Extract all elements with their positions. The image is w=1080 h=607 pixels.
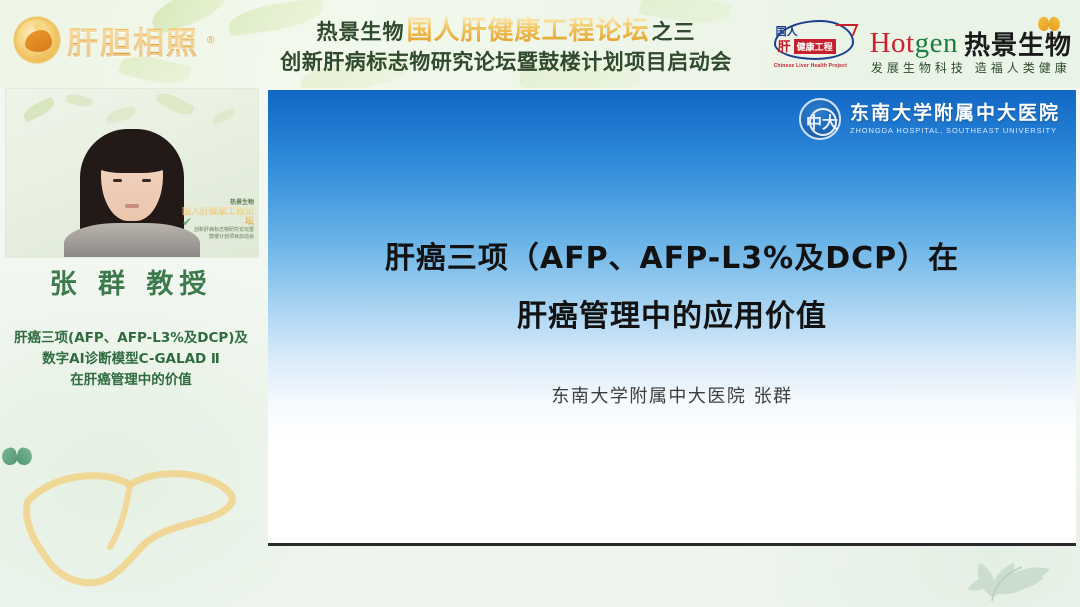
speaker-topic: 肝癌三项(AFP、AFP-L3%及DCP)及 数字AI诊断模型C-GALAD Ⅱ…: [4, 328, 258, 391]
slide-presenter: 东南大学附属中大医院 张群: [268, 382, 1076, 408]
slide-title-line-2: 肝癌管理中的应用价值: [268, 288, 1076, 346]
app-root: 肝胆相照 ® 热景生物国人肝健康工程论坛之三 创新肝病标志物研究论坛暨鼓楼计划项…: [0, 0, 1080, 607]
registered-mark: ®: [207, 35, 214, 46]
brand-logo[interactable]: 肝胆相照 ®: [14, 17, 214, 63]
leaf-decor-icon: [211, 107, 237, 125]
liver-outline-decoration: [14, 455, 246, 590]
watermark-line-4: 鼓楼计划项目启动会: [182, 234, 254, 241]
leaf-decor-icon: [21, 96, 57, 122]
event-title-line-2: 创新肝病标志物研究论坛暨鼓楼计划项目启动会: [256, 47, 756, 77]
hotgen-logo: Hotgen 热景生物 发展生物科技 造福人类健康: [870, 25, 1072, 62]
leaf-decoration-icon: [918, 543, 1068, 605]
hotgen-word-hot: Hot: [870, 27, 915, 59]
event-title-block: 热景生物国人肝健康工程论坛之三 创新肝病标志物研究论坛暨鼓楼计划项目启动会: [256, 16, 756, 77]
watermark-line-3: 创新肝病标志物研究论坛暨: [182, 227, 254, 234]
liver-emblem-icon: [14, 17, 60, 63]
speaker-portrait: [73, 107, 191, 257]
presentation-slide[interactable]: 中大 东南大学附属中大医院 ZHONGDA HOSPITAL, SOUTHEAS…: [268, 90, 1076, 546]
china-liver-health-project-logo: 国人 肝 健康工程 Chinese Liver Health Project: [772, 18, 858, 68]
slide-title: 肝癌三项（AFP、AFP-L3%及DCP）在 肝癌管理中的应用价值: [268, 230, 1076, 346]
hospital-name-cn: 东南大学附属中大医院: [850, 104, 1060, 124]
check-icon: ✔: [182, 215, 192, 229]
speaker-topic-line-3: 在肝癌管理中的价值: [4, 370, 258, 391]
arrow-icon: [831, 24, 858, 36]
watermark-line-1: 热景生物: [182, 199, 254, 207]
speaker-topic-line-1: 肝癌三项(AFP、AFP-L3%及DCP)及: [4, 328, 258, 349]
clhp-en-label: Chinese Liver Health Project: [774, 63, 847, 69]
clhp-cn-red: 肝: [778, 36, 791, 55]
event-title-suffix: 之三: [652, 20, 696, 44]
hospital-seal-icon: 中大: [799, 98, 841, 140]
sponsor-logos: 国人 肝 健康工程 Chinese Liver Health Project H…: [772, 18, 1072, 68]
hospital-name-en: ZHONGDA HOSPITAL, SOUTHEAST UNIVERSITY: [850, 127, 1060, 135]
hotgen-word-gen: gen: [915, 27, 958, 59]
butterfly-icon: [1038, 17, 1060, 37]
clhp-band-label: 健康工程: [794, 39, 836, 54]
event-title-highlight: 国人肝健康工程论坛: [404, 16, 651, 46]
hotgen-wordmark: Hotgen: [870, 28, 958, 58]
video-watermark: ✔ 热景生物 国人肝健康工程论坛 创新肝病标志物研究论坛暨 鼓楼计划项目启动会: [182, 199, 254, 241]
hotgen-tagline: 发展生物科技 造福人类健康: [870, 59, 1072, 76]
hospital-logo: 中大 东南大学附属中大医院 ZHONGDA HOSPITAL, SOUTHEAS…: [799, 98, 1060, 140]
event-title-line-1: 热景生物国人肝健康工程论坛之三: [256, 16, 756, 47]
hospital-seal-glyph: 中大: [801, 100, 843, 142]
event-title-prefix: 热景生物: [316, 20, 404, 44]
brand-name: 肝胆相照: [67, 18, 199, 63]
watermark-highlight: 国人肝健康工程论坛: [182, 207, 254, 227]
speaker-name: 张 群 教授: [0, 262, 262, 301]
speaker-topic-line-2: 数字AI诊断模型C-GALAD Ⅱ: [4, 349, 258, 370]
slide-title-line-1: 肝癌三项（AFP、AFP-L3%及DCP）在: [268, 230, 1076, 288]
speaker-video-thumbnail[interactable]: ✔ 热景生物 国人肝健康工程论坛 创新肝病标志物研究论坛暨 鼓楼计划项目启动会: [5, 88, 259, 258]
event-header-banner: 肝胆相照 ® 热景生物国人肝健康工程论坛之三 创新肝病标志物研究论坛暨鼓楼计划项…: [0, 0, 1080, 88]
